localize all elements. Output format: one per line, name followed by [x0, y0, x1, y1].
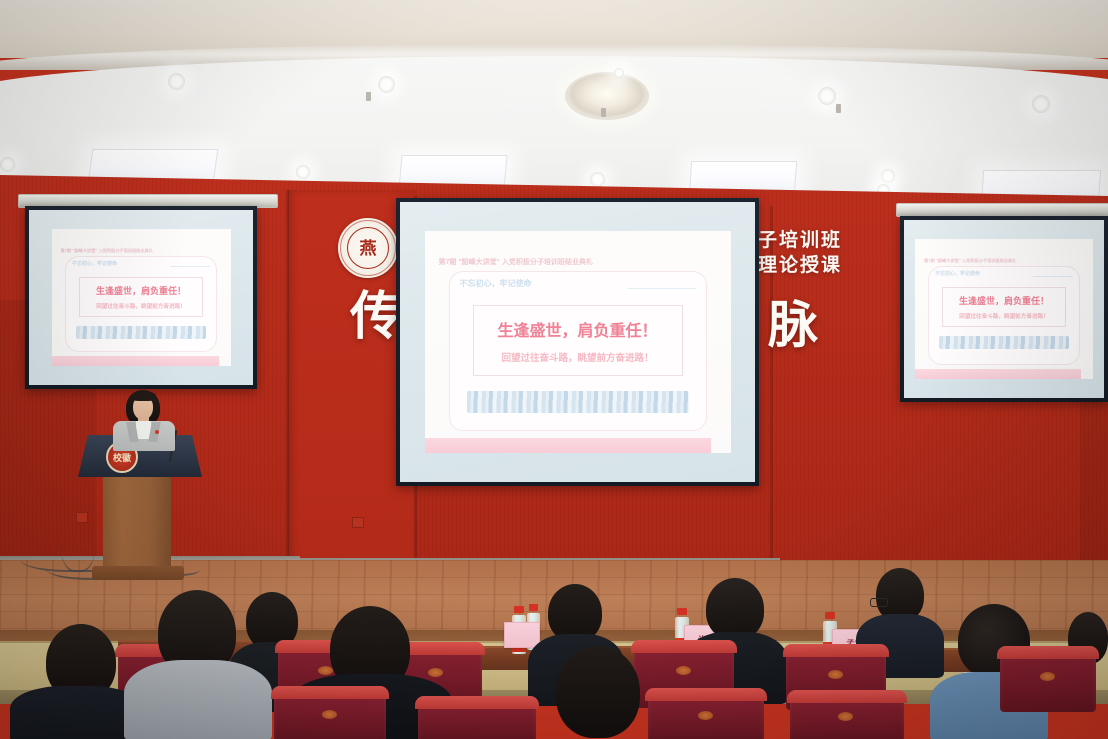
center-slide-inner-box: 生逢盛世，肩负重任！ 回望过往奋斗路，眺望前方奋进路！ — [473, 305, 683, 376]
right-slide-header: 第7期 "韶峰大讲堂" 入党积极分子培训班结业典礼 — [924, 258, 1087, 264]
downlight-icon — [881, 169, 895, 183]
left-slide: 第7期 "韶峰大讲堂" 入党积极分子培训班结业典礼 不忘初心，牢记使命 生逢盛世… — [52, 229, 231, 366]
wall-calligraphy-left: 传 — [350, 292, 402, 344]
bottle-cap — [514, 606, 524, 613]
downlight-icon — [168, 73, 185, 90]
right-slide-inner-box: 生逢盛世，肩负重任！ 回望过往奋斗路，眺望前方奋进路！ — [942, 287, 1066, 327]
left-slide-photo-strip — [76, 326, 206, 339]
sprinkler-icon — [836, 104, 841, 113]
left-slide-footer-band — [52, 356, 219, 366]
floor-cable — [60, 500, 96, 572]
downlight-icon — [0, 157, 15, 172]
seat-top-trim — [787, 690, 907, 703]
left-slide-subtitle: 回望过往奋斗路，眺望前方奋进路！ — [96, 302, 186, 310]
center-slide-footer-band — [425, 438, 711, 453]
right-projector-screen[interactable]: 第7期 "韶峰大讲堂" 入党积极分子培训班结业典礼 不忘初心，牢记使命 生逢盛世… — [900, 216, 1108, 402]
seat-top-trim — [997, 646, 1099, 659]
left-slide-card: 不忘初心，牢记使命 生逢盛世，肩负重任！ 回望过往奋斗路，眺望前方奋进路！ — [65, 256, 217, 352]
downlight-icon — [818, 87, 836, 105]
podium-column — [103, 477, 171, 569]
audience-shoulders — [124, 660, 272, 739]
auditorium-seat[interactable] — [790, 694, 904, 739]
sprinkler-icon — [366, 92, 371, 101]
left-slide-title: 生逢盛世，肩负重任！ — [96, 284, 186, 297]
left-slide-inner-box: 生逢盛世，肩负重任！ 回望过往奋斗路，眺望前方奋进路！ — [79, 277, 203, 317]
seat-top-trim — [271, 686, 389, 699]
seat-badge-icon — [698, 711, 713, 720]
wall-power-socket-icon — [352, 517, 364, 528]
center-card-top-left-text: 不忘初心，牢记使命 — [460, 278, 532, 289]
downlight-icon — [296, 165, 310, 179]
auditorium-seat[interactable] — [274, 690, 386, 739]
audience-head — [556, 646, 640, 738]
auditorium-seat[interactable] — [418, 700, 536, 739]
right-slide-photo-strip — [939, 336, 1069, 349]
right-slide-card: 不忘初心，牢记使命 生逢盛世，肩负重任！ 回望过往奋斗路，眺望前方奋进路！ — [928, 266, 1080, 365]
auditorium-scene: 燕 传 脉 子培训班 理论授课 第7期 "韶峰大讲堂" 入党积极分子培训班结业典… — [0, 0, 1108, 739]
sprinkler-icon — [601, 108, 606, 117]
wall-panel-seam — [286, 190, 289, 568]
right-slide: 第7期 "韶峰大讲堂" 入党积极分子培训班结业典礼 不忘初心，牢记使命 生逢盛世… — [915, 239, 1093, 379]
podium-base — [92, 566, 184, 580]
right-slide-title: 生逢盛世，肩负重任！ — [959, 294, 1049, 307]
seat-top-trim — [631, 640, 737, 653]
university-seal-emblem: 燕 — [338, 218, 398, 278]
right-slide-footer-band — [915, 369, 1081, 379]
seat-top-trim — [645, 688, 767, 701]
right-card-top-left-text: 不忘初心，牢记使命 — [935, 270, 980, 277]
left-screen-surface: 第7期 "韶峰大讲堂" 入党积极分子培训班结业典礼 不忘初心，牢记使命 生逢盛世… — [29, 210, 253, 385]
speaker-lapel-badge-icon — [155, 430, 159, 434]
downlight-icon — [1032, 95, 1050, 113]
center-card-top-right-rule — [628, 288, 696, 289]
seat-badge-icon — [318, 666, 333, 675]
audience-head — [706, 578, 764, 640]
center-slide: 第7期 "韶峰大讲堂" 入党积极分子培训班结业典礼 不忘初心，牢记使命 生逢盛世… — [425, 231, 731, 453]
left-slide-header: 第7期 "韶峰大讲堂" 入党积极分子培训班结业典礼 — [61, 248, 225, 254]
wall-banner-line-2: 理论授课 — [758, 250, 842, 277]
downlight-icon — [590, 172, 605, 187]
bottle-cap — [677, 608, 687, 615]
seat-badge-icon — [428, 668, 443, 677]
speaker-hair-fringe — [131, 391, 156, 401]
seat-badge-icon — [828, 670, 843, 679]
seat-badge-icon — [1040, 672, 1055, 681]
right-screen-surface: 第7期 "韶峰大讲堂" 入党积极分子培训班结业典礼 不忘初心，牢记使命 生逢盛世… — [904, 220, 1104, 398]
left-card-top-left-text: 不忘初心，牢记使命 — [72, 260, 117, 267]
right-card-top-right-rule — [1033, 276, 1073, 277]
center-screen-surface: 第7期 "韶峰大讲堂" 入党积极分子培训班结业典礼 不忘初心，牢记使命 生逢盛世… — [400, 202, 755, 482]
audience-glasses-icon — [870, 598, 888, 607]
left-card-top-right-rule — [170, 266, 210, 267]
dome-ceiling-light-icon — [565, 72, 649, 120]
left-projector-screen[interactable]: 第7期 "韶峰大讲堂" 入党积极分子培训班结业典礼 不忘初心，牢记使命 生逢盛世… — [25, 206, 257, 389]
right-screen-roller-case — [896, 203, 1108, 217]
seat-top-trim — [783, 644, 889, 657]
auditorium-seat[interactable] — [648, 692, 764, 739]
downlight-icon — [614, 68, 624, 78]
downlight-icon — [378, 76, 395, 93]
bottle-cap — [529, 604, 538, 611]
seat-badge-icon — [838, 712, 853, 721]
center-slide-title: 生逢盛世，肩负重任！ — [497, 317, 657, 341]
center-slide-card: 不忘初心，牢记使命 生逢盛世，肩负重任！ 回望过往奋斗路，眺望前方奋进路！ — [449, 271, 707, 431]
seal-outer-ring — [340, 220, 396, 276]
seat-top-trim — [415, 696, 539, 709]
wall-banner-line-1: 子培训班 — [758, 225, 842, 252]
center-slide-header: 第7期 "韶峰大讲堂" 入党积极分子培训班结业典礼 — [439, 257, 721, 267]
seat-badge-icon — [322, 710, 337, 719]
bottle-cap — [825, 612, 835, 619]
wall-calligraphy-right: 脉 — [768, 300, 818, 350]
audience-name-card — [504, 622, 540, 648]
auditorium-seat[interactable] — [1000, 650, 1096, 712]
center-slide-photo-strip — [467, 391, 689, 413]
center-slide-subtitle: 回望过往奋斗路，眺望前方奋进路！ — [501, 350, 653, 364]
seat-badge-icon — [676, 666, 691, 675]
center-projector-screen[interactable]: 第7期 "韶峰大讲堂" 入党积极分子培训班结业典礼 不忘初心，牢记使命 生逢盛世… — [396, 198, 759, 486]
right-slide-subtitle: 回望过往奋斗路，眺望前方奋进路！ — [959, 312, 1049, 320]
